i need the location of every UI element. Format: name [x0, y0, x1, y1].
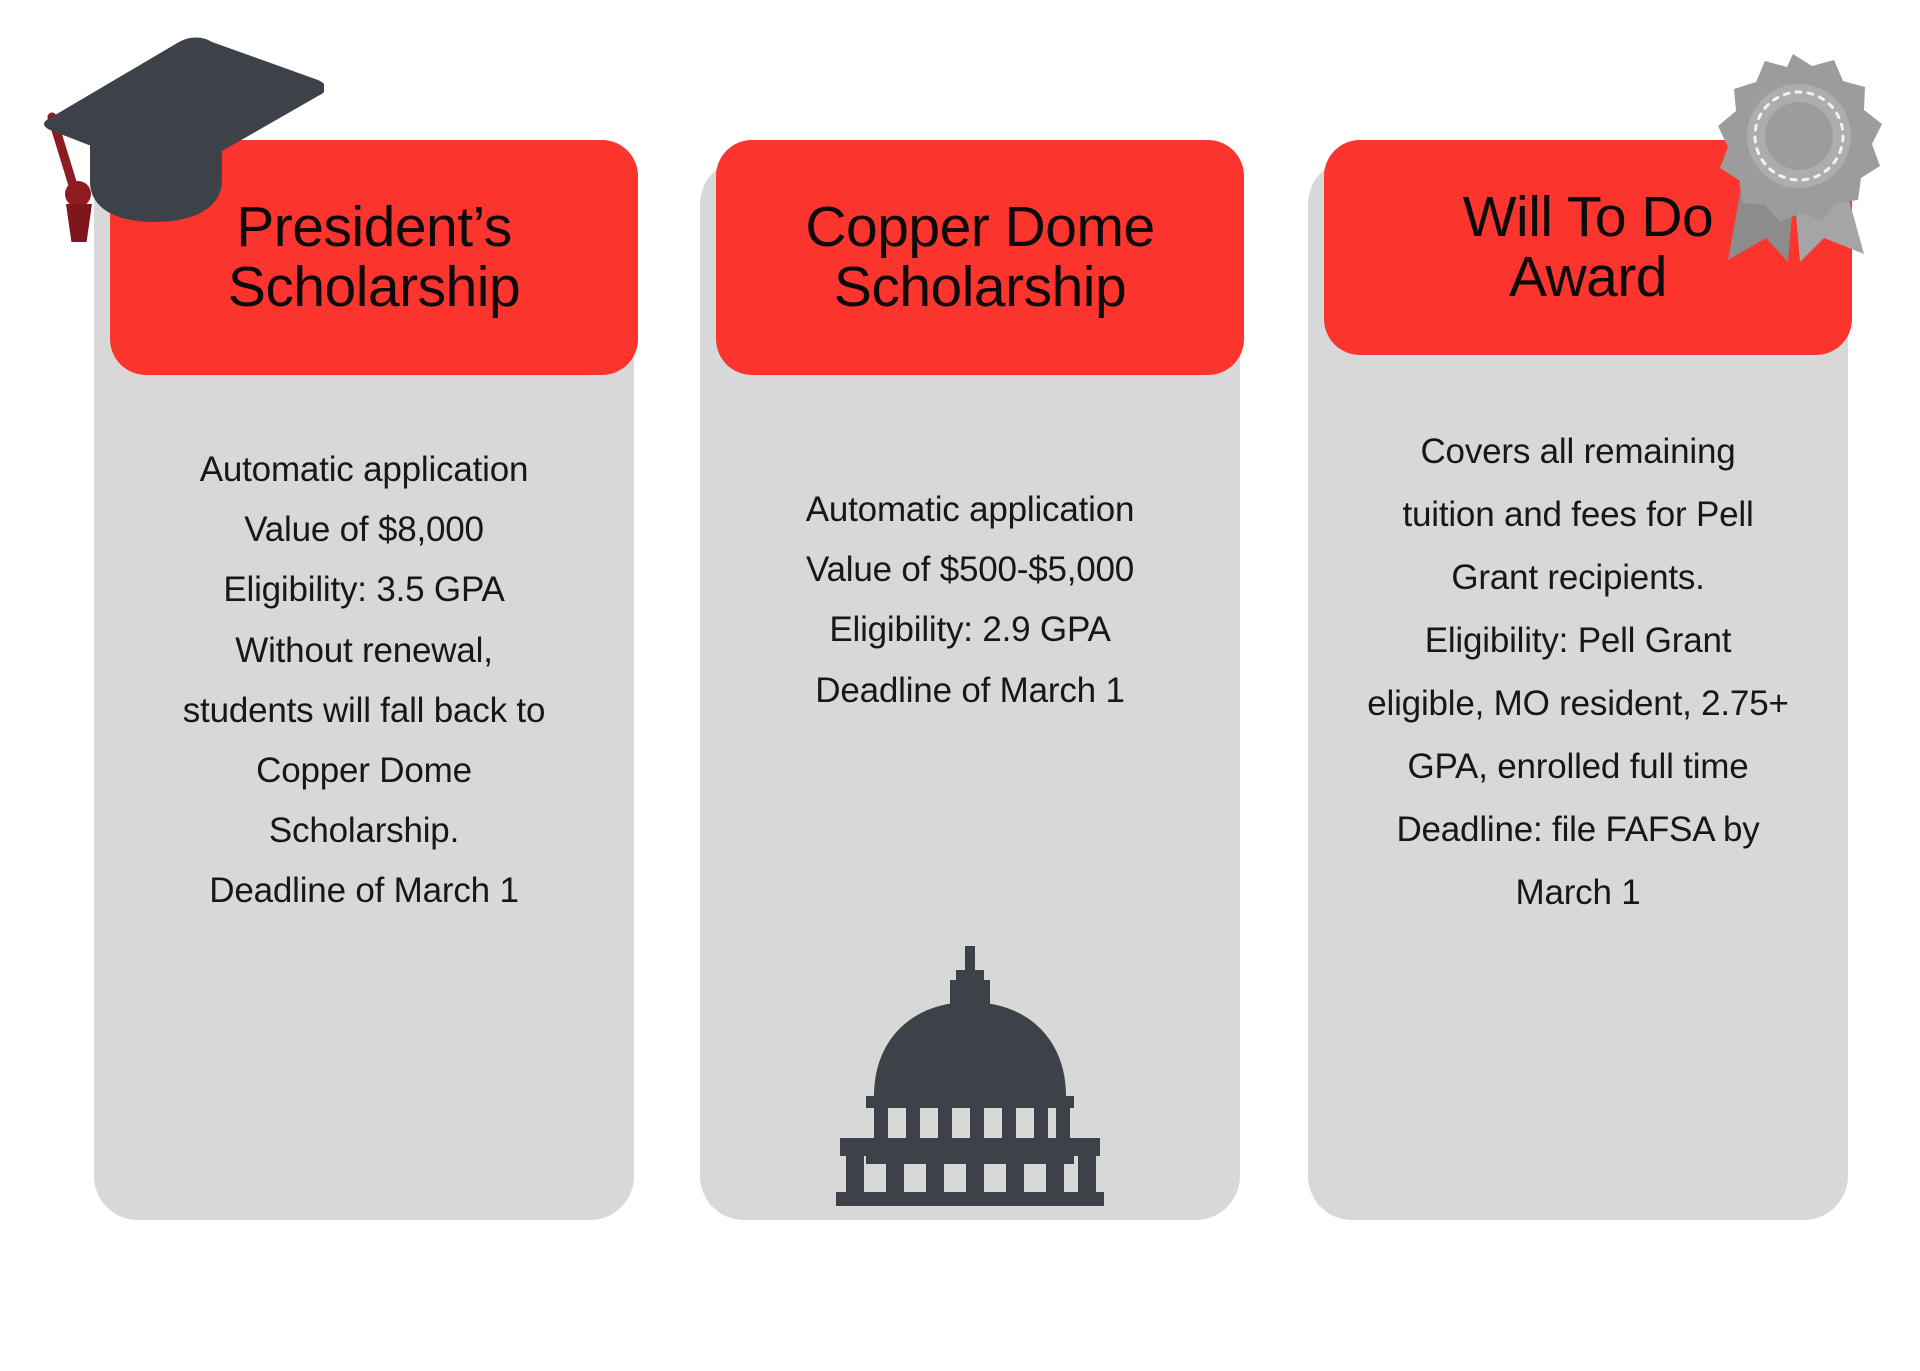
card-header-copper-dome: Copper Dome Scholarship [716, 140, 1244, 375]
card-title-copper-dome: Copper Dome Scholarship [805, 198, 1154, 318]
card-header-will-to-do: Will To Do Award [1324, 140, 1852, 355]
card-body-presidents: Automatic application Value of $8,000 El… [94, 440, 634, 922]
card-header-presidents: President’s Scholarship [110, 140, 638, 375]
scholarship-card-copper-dome: Copper Dome Scholarship Automatic applic… [700, 160, 1240, 1220]
infographic-canvas: President’s Scholarship Automatic applic… [0, 0, 1920, 1371]
scholarship-card-will-to-do: Will To Do Award Covers all remaining tu… [1308, 160, 1848, 1220]
card-body-copper-dome: Automatic application Value of $500-$5,0… [700, 480, 1240, 721]
capitol-dome-icon [830, 946, 1110, 1206]
scholarship-card-presidents: President’s Scholarship Automatic applic… [94, 160, 634, 1220]
card-body-will-to-do: Covers all remaining tuition and fees fo… [1308, 420, 1848, 924]
card-title-presidents: President’s Scholarship [228, 198, 520, 318]
card-title-will-to-do: Will To Do Award [1463, 188, 1714, 308]
